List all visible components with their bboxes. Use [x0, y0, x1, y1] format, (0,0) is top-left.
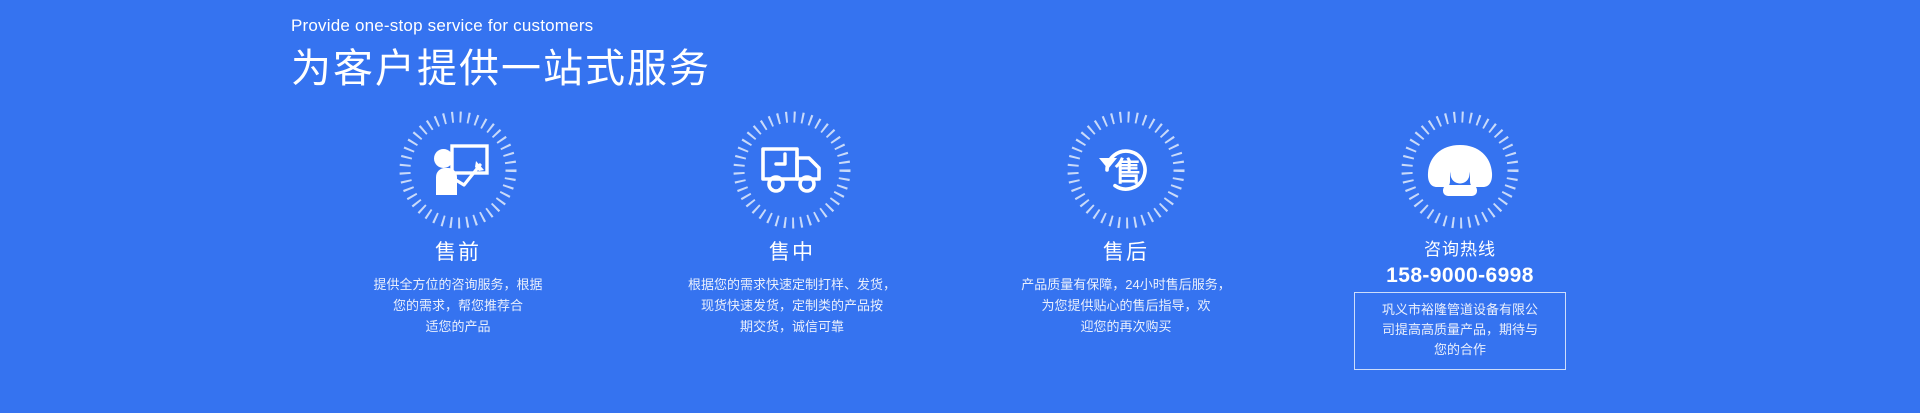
service-column-presale: 售前 提供全方位的咨询服务，根据 您的需求，帮您推荐合 适您的产品	[291, 110, 625, 337]
after-sales-refresh-icon: 售	[1090, 134, 1162, 206]
icon-ring-after-sale: 售	[1066, 110, 1186, 230]
company-info-line: 司提高高质量产品，期待与	[1369, 320, 1551, 340]
desc-line: 迎您的再次购买	[1021, 316, 1230, 337]
icon-ring-during-sale	[732, 110, 852, 230]
icon-ring-hotline	[1400, 110, 1520, 230]
icon-ring-presale	[398, 110, 518, 230]
svg-text:售: 售	[1115, 156, 1142, 187]
desc-line: 现货快速发货，定制类的产品按	[688, 295, 896, 316]
delivery-truck-clock-icon	[756, 134, 828, 206]
service-column-after-sale: 售 售后 产品质量有保障，24小时售后服务， 为您提供贴心的售后指导，欢 迎您的…	[959, 110, 1293, 337]
desc-line: 期交货，诚信可靠	[688, 316, 896, 337]
company-info-line: 巩义市裕隆管道设备有限公	[1369, 300, 1551, 320]
column-description: 根据您的需求快速定制打样、发货， 现货快速发货，定制类的产品按 期交货，诚信可靠	[688, 274, 896, 337]
desc-line: 适您的产品	[373, 316, 542, 337]
desc-line: 产品质量有保障，24小时售后服务，	[1021, 274, 1230, 295]
column-title: 售前	[435, 238, 481, 268]
hotline-number[interactable]: 158-9000-6998	[1386, 263, 1534, 288]
desc-line: 为您提供贴心的售后指导，欢	[1021, 295, 1230, 316]
service-columns: 售前 提供全方位的咨询服务，根据 您的需求，帮您推荐合 适您的产品	[291, 110, 1629, 370]
eyebrow-text: Provide one-stop service for customers	[291, 14, 711, 38]
promo-banner: Provide one-stop service for customers 为…	[0, 0, 1920, 413]
hotline-title: 咨询热线	[1424, 238, 1496, 262]
desc-line: 提供全方位的咨询服务，根据	[373, 274, 542, 295]
page-title: 为客户提供一站式服务	[291, 45, 711, 93]
company-info-line: 您的合作	[1369, 340, 1551, 360]
column-description: 提供全方位的咨询服务，根据 您的需求，帮您推荐合 适您的产品	[373, 274, 542, 337]
telephone-icon	[1424, 134, 1496, 206]
desc-line: 您的需求，帮您推荐合	[373, 295, 542, 316]
desc-line: 根据您的需求快速定制打样、发货，	[688, 274, 896, 295]
service-column-hotline: 咨询热线 158-9000-6998 巩义市裕隆管道设备有限公 司提高高质量产品…	[1293, 110, 1627, 370]
column-description: 产品质量有保障，24小时售后服务， 为您提供贴心的售后指导，欢 迎您的再次购买	[1021, 274, 1230, 337]
presenter-whiteboard-icon	[422, 134, 494, 206]
company-info-box: 巩义市裕隆管道设备有限公 司提高高质量产品，期待与 您的合作	[1354, 292, 1566, 370]
column-title: 售后	[1103, 238, 1149, 268]
column-title: 售中	[769, 238, 815, 268]
heading-block: Provide one-stop service for customers 为…	[291, 14, 711, 93]
service-column-during-sale: 售中 根据您的需求快速定制打样、发货， 现货快速发货，定制类的产品按 期交货，诚…	[625, 110, 959, 337]
